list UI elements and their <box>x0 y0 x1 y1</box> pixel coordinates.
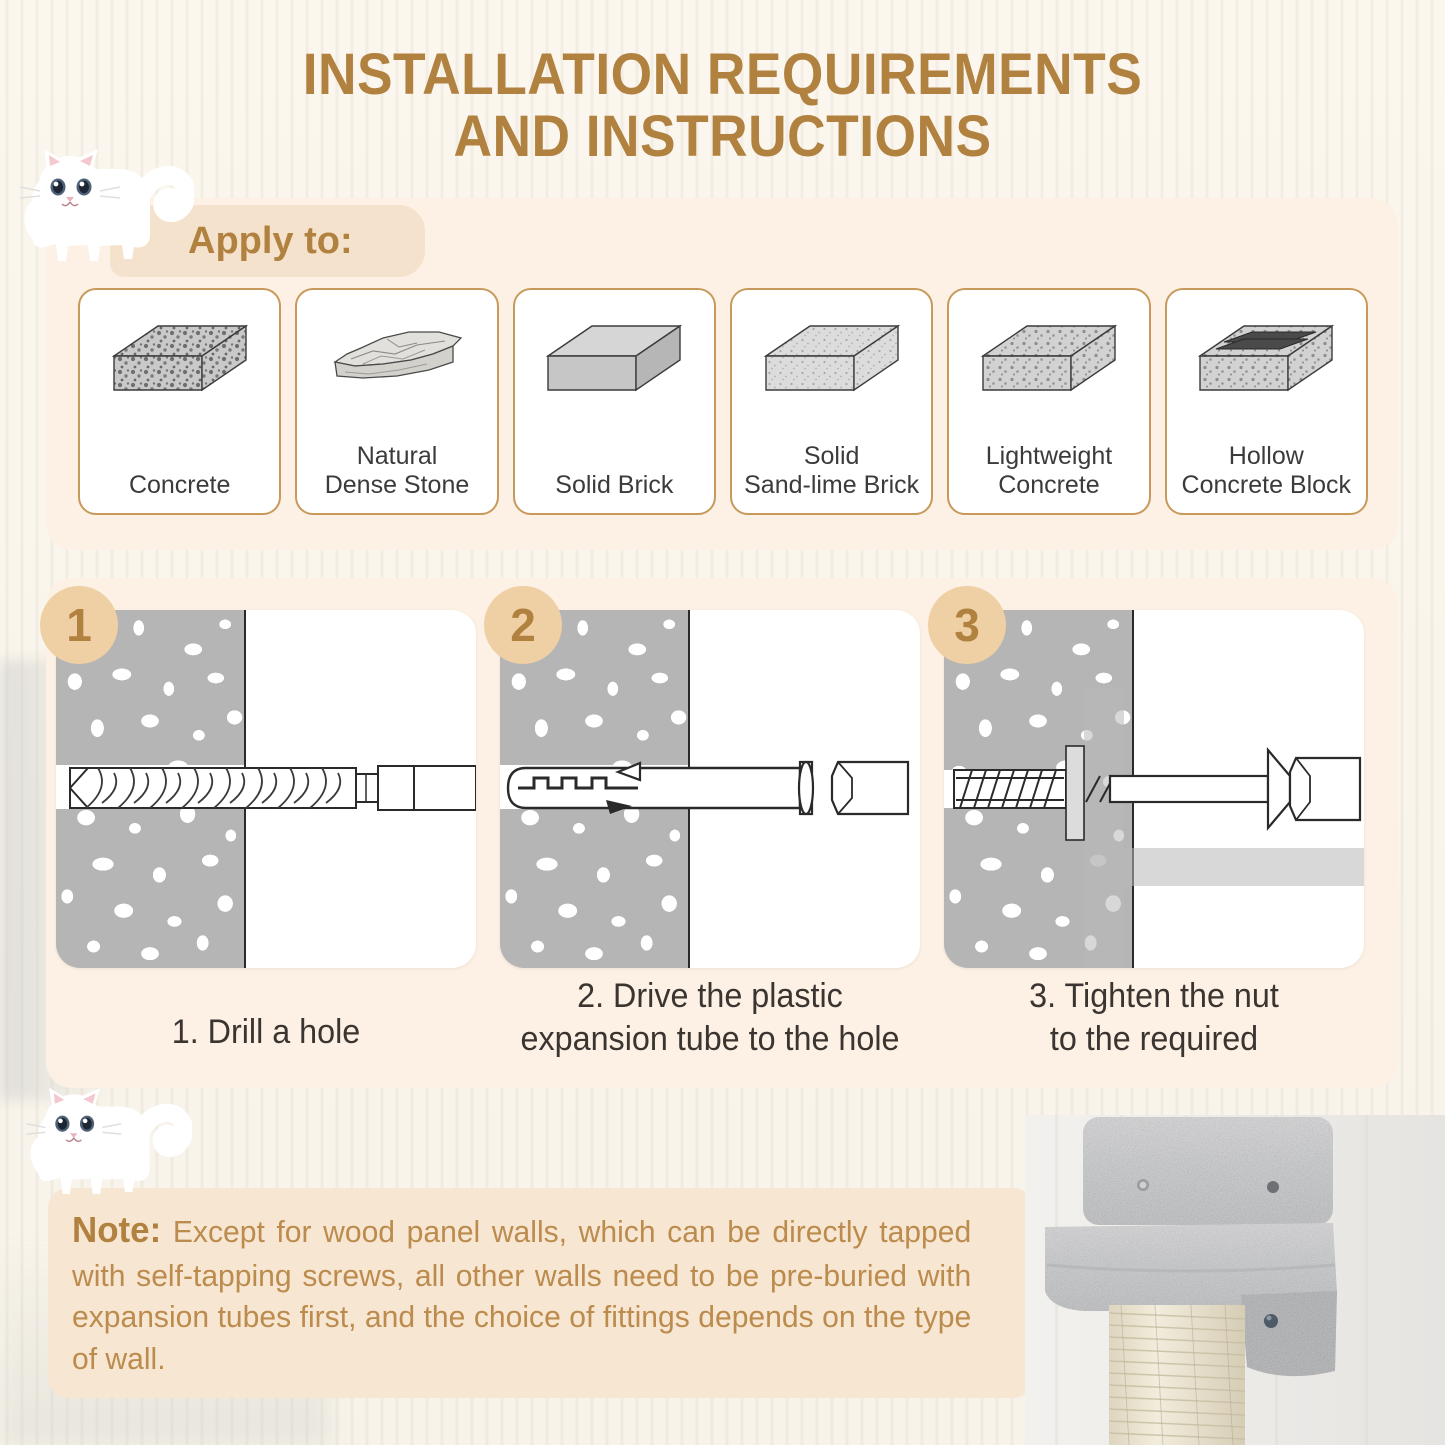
lightweight-concrete-icon <box>973 304 1125 404</box>
note-body-text: Except for wood panel walls, which can b… <box>72 1214 971 1376</box>
material-card-hollow-concrete-block[interactable]: Hollow Concrete Block <box>1165 288 1368 515</box>
expansion-tube-diagram <box>500 610 920 968</box>
step-3-container: 3 <box>944 610 1364 968</box>
material-label: Solid Brick <box>551 471 677 500</box>
material-label: Solid Sand-lime Brick <box>740 442 923 499</box>
step-2-figure <box>500 610 920 968</box>
white-cat-icon-bottom <box>20 1082 192 1210</box>
material-card-solid-sand-lime-brick[interactable]: Solid Sand-lime Brick <box>730 288 933 515</box>
material-label: Hollow Concrete Block <box>1178 442 1356 499</box>
step-3-figure <box>944 610 1364 968</box>
sand-lime-brick-icon <box>756 304 908 404</box>
material-label: Lightweight Concrete <box>982 442 1116 499</box>
page-title: INSTALLATION REQUIREMENTS AND INSTRUCTIO… <box>58 44 1387 168</box>
note-panel: Note: Except for wood panel walls, which… <box>48 1188 1033 1398</box>
page-title-line-2: AND INSTRUCTIONS <box>58 106 1387 168</box>
material-card-list: Concrete Natural Dense Stone Solid Brick <box>78 288 1368 515</box>
note-text: Note: Except for wood panel walls, which… <box>72 1206 971 1380</box>
material-card-solid-brick[interactable]: Solid Brick <box>513 288 716 515</box>
concrete-block-icon <box>104 304 256 404</box>
step-caption-3: 3. Tighten the nut to the required <box>955 975 1354 1060</box>
material-label: Concrete <box>125 471 234 500</box>
material-card-natural-dense-stone[interactable]: Natural Dense Stone <box>295 288 498 515</box>
page-title-line-1: INSTALLATION REQUIREMENTS <box>58 44 1387 106</box>
step-number-badge-2: 2 <box>484 586 562 664</box>
step-number-badge-3: 3 <box>928 586 1006 664</box>
step-2-container: 2 <box>500 610 920 968</box>
step-caption-list: 1. Drill a hole 2. Drive the plastic exp… <box>56 975 1396 1060</box>
natural-stone-icon <box>321 304 473 404</box>
note-lead-label: Note: <box>72 1209 161 1250</box>
material-card-lightweight-concrete[interactable]: Lightweight Concrete <box>947 288 1150 515</box>
screw-and-nut-diagram <box>944 610 1364 968</box>
drill-bit-in-wall-diagram <box>56 610 476 968</box>
hollow-concrete-block-icon <box>1190 304 1342 404</box>
grey-plush-cat-tree-platform-photo <box>1025 1115 1445 1445</box>
material-card-concrete[interactable]: Concrete <box>78 288 281 515</box>
product-photo <box>1025 1115 1445 1445</box>
step-number-badge-1: 1 <box>40 586 118 664</box>
apply-to-label: Apply to: <box>188 220 353 263</box>
step-caption-2: 2. Drive the plastic expansion tube to t… <box>511 975 910 1060</box>
white-cat-icon-top <box>14 143 194 278</box>
step-figure-list: 1 2 <box>56 610 1396 968</box>
material-label: Natural Dense Stone <box>321 442 474 499</box>
step-1-figure <box>56 610 476 968</box>
step-1-container: 1 <box>56 610 476 968</box>
solid-brick-icon <box>538 304 690 404</box>
step-caption-1: 1. Drill a hole <box>67 975 466 1060</box>
